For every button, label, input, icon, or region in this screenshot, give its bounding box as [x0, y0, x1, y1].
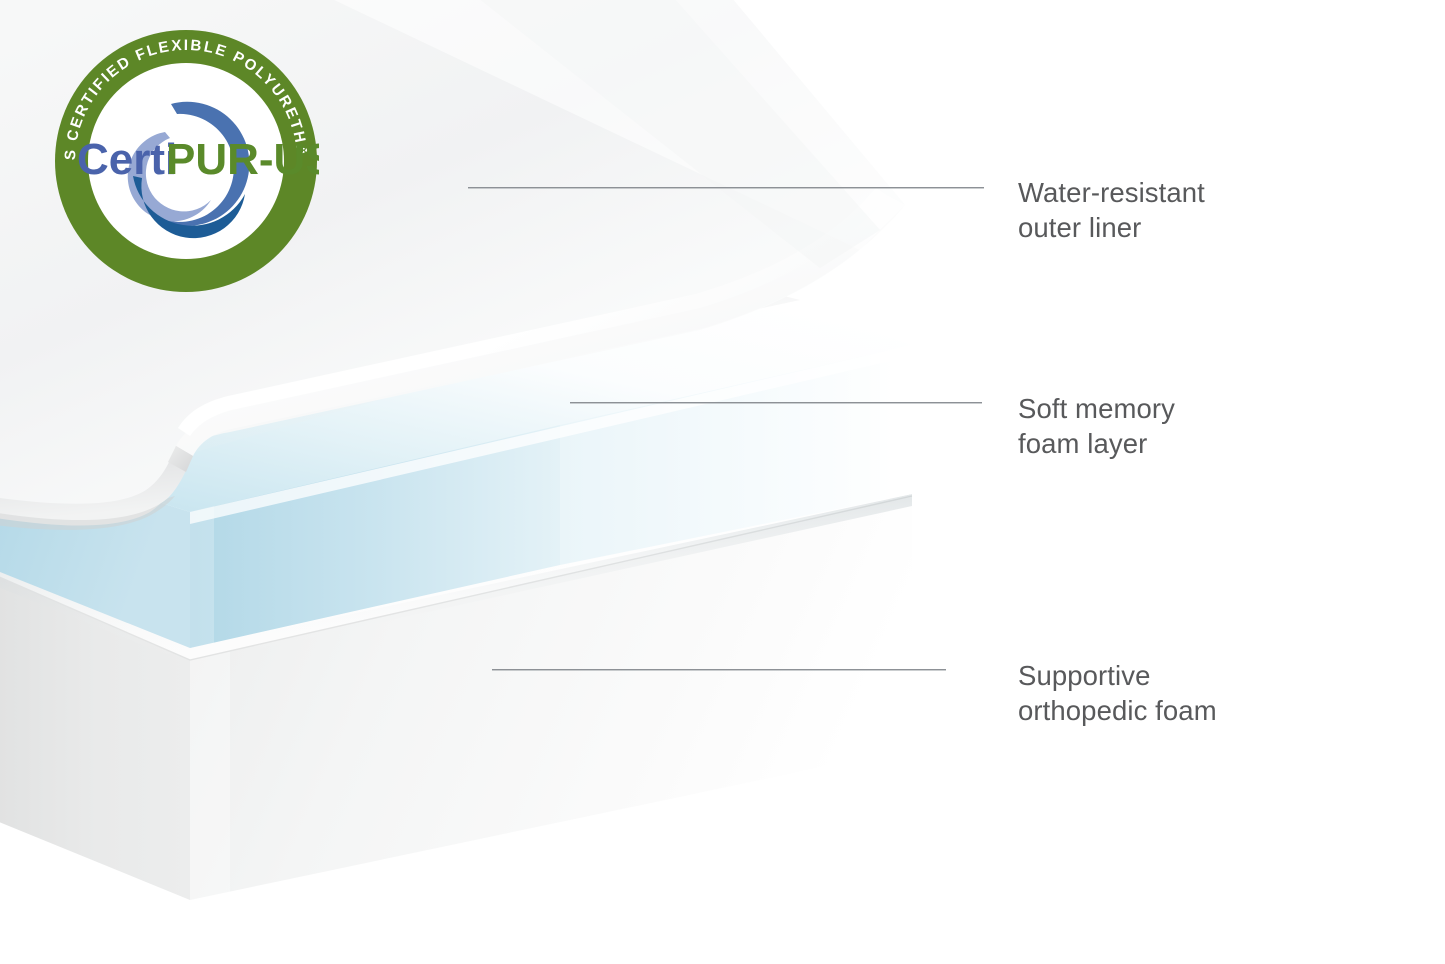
leader-line-shadow [570, 403, 982, 404]
callout-label-outer-liner: Water-resistant outer liner [1018, 175, 1205, 245]
badge-wordmark-pur-us: PUR-US [166, 135, 319, 184]
certipur-us-seal-graphic: CONTAINS CERTIFIED FLEXIBLE POLYURETHANE… [53, 28, 319, 294]
leader-line-memory-foam [570, 402, 982, 404]
badge-wordmark: Certi PUR-US ® [77, 135, 319, 184]
certipur-us-badge: CONTAINS CERTIFIED FLEXIBLE POLYURETHANE… [53, 28, 319, 294]
badge-wordmark-certi: Certi [77, 135, 177, 184]
base-foam-corner-highlight [190, 651, 230, 900]
memory-foam-corner-highlight [190, 506, 214, 648]
product-layer-diagram: Water-resistant outer liner Soft memory … [0, 0, 1445, 964]
leader-line-orthopedic-foam [492, 669, 946, 671]
badge-registered-mark: ® [299, 142, 309, 157]
leader-line-shadow [492, 670, 946, 671]
leader-line-outer-liner [468, 187, 984, 189]
callout-label-orthopedic-foam: Supportive orthopedic foam [1018, 658, 1217, 728]
leader-line-shadow [468, 188, 984, 189]
memory-foam-right-facet [880, 345, 912, 501]
callout-label-memory-foam: Soft memory foam layer [1018, 391, 1175, 461]
